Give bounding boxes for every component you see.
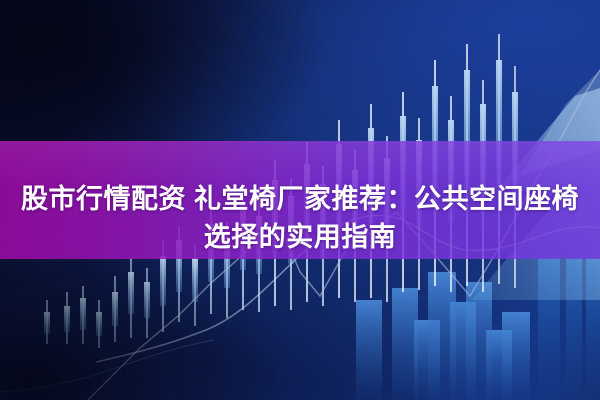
promo-banner-image: 股市行情配资 礼堂椅厂家推荐：公共空间座椅选择的实用指南 <box>0 0 600 400</box>
page-title: 股市行情配资 礼堂椅厂家推荐：公共空间座椅选择的实用指南 <box>0 159 600 277</box>
